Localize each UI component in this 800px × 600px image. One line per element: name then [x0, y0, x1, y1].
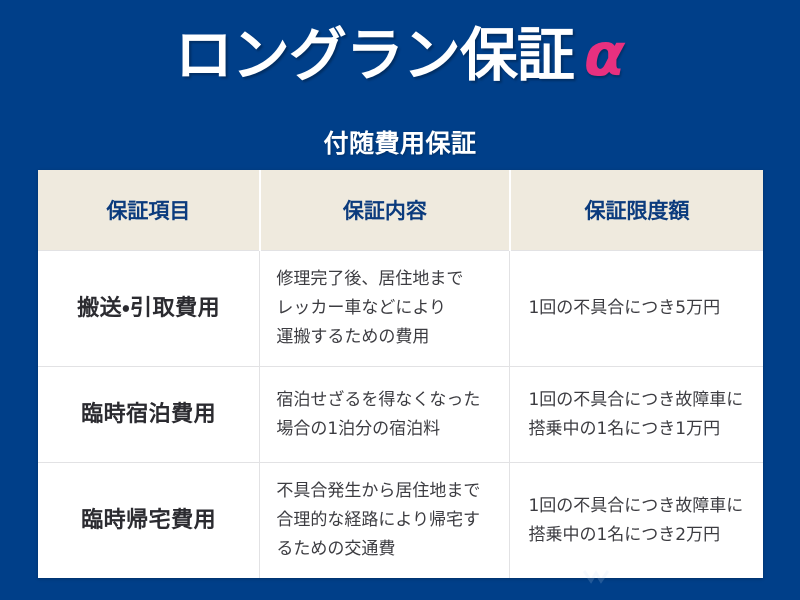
guarantee-table: 保証項目 保証内容 保証限度額 搬送・引取費用 修理完了後、居住地まで レッカー… [38, 170, 763, 578]
row-detail: 修理完了後、居住地まで レッカー車などにより 運搬するための費用 [260, 251, 510, 367]
row-detail: 不具合発生から居住地まで 合理的な経路により帰宅す るための交通費 [260, 463, 510, 579]
row-detail-line: 宿泊せざるを得なくなった [276, 386, 501, 415]
row-amount-line: 搭乗中の1名につき1万円 [528, 415, 755, 444]
slide-root: ロングラン保証α 付随費用保証 保証項目 保証内容 保証限度額 搬送・引取費用 … [0, 0, 800, 600]
row-amount: 1回の不具合につき5万円 [510, 251, 763, 367]
row-amount: 1回の不具合につき故障車に 搭乗中の1名につき1万円 [510, 367, 763, 463]
page-title: ロングラン保証α [0, 20, 800, 90]
row-detail-line: 合理的な経路により帰宅す [276, 506, 501, 535]
row-detail-line: るための交通費 [276, 535, 501, 564]
table-row: 臨時宿泊費用 宿泊せざるを得なくなった 場合の1泊分の宿泊料 1回の不具合につき… [38, 367, 763, 463]
row-amount: 1回の不具合につき故障車に 搭乗中の1名につき2万円 [510, 463, 763, 579]
page-title-alpha: α [584, 20, 625, 90]
page-subtitle: 付随費用保証 [0, 128, 800, 160]
row-detail-line: 運搬するための費用 [276, 323, 501, 352]
table-row: 搬送・引取費用 修理完了後、居住地まで レッカー車などにより 運搬するための費用… [38, 251, 763, 367]
column-header-item: 保証項目 [38, 170, 260, 251]
row-item-name: 搬送・引取費用 [38, 251, 260, 367]
row-item-name: 臨時帰宅費用 [38, 463, 260, 579]
row-detail: 宿泊せざるを得なくなった 場合の1泊分の宿泊料 [260, 367, 510, 463]
table-row: 臨時帰宅費用 不具合発生から居住地まで 合理的な経路により帰宅す るための交通費… [38, 463, 763, 579]
table-header: 保証項目 保証内容 保証限度額 [38, 170, 763, 251]
row-detail-line: 不具合発生から居住地まで [276, 477, 501, 506]
page-title-main: ロングラン保証 [175, 20, 574, 90]
column-header-limit: 保証限度額 [510, 170, 763, 251]
table-body: 搬送・引取費用 修理完了後、居住地まで レッカー車などにより 運搬するための費用… [38, 251, 763, 579]
row-detail-line: 修理完了後、居住地まで [276, 265, 501, 294]
guarantee-table-container: 保証項目 保証内容 保証限度額 搬送・引取費用 修理完了後、居住地まで レッカー… [38, 170, 763, 578]
row-amount-line: 1回の不具合につき故障車に [528, 492, 755, 521]
row-amount-line: 搭乗中の1名につき2万円 [528, 521, 755, 550]
column-header-content: 保証内容 [260, 170, 510, 251]
row-amount-line: 1回の不具合につき故障車に [528, 386, 755, 415]
row-item-name: 臨時宿泊費用 [38, 367, 260, 463]
table-header-row: 保証項目 保証内容 保証限度額 [38, 170, 763, 251]
row-detail-line: 場合の1泊分の宿泊料 [276, 415, 501, 444]
row-amount-line: 1回の不具合につき5万円 [528, 294, 755, 323]
row-detail-line: レッカー車などにより [276, 294, 501, 323]
